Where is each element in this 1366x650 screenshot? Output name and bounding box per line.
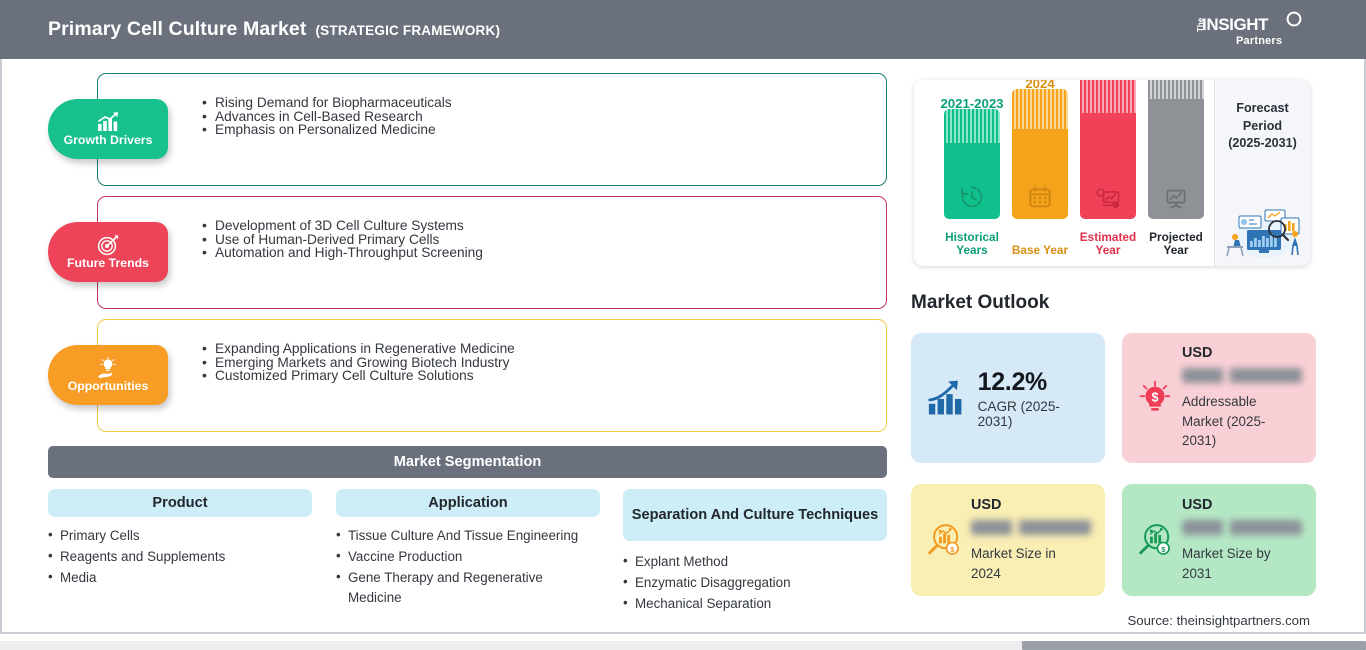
- segment-items-product: Primary Cells Reagents and Supplements M…: [48, 526, 312, 588]
- card-future-trends: Development of 3D Cell Culture Systems U…: [97, 196, 887, 309]
- list-item: Primary Cells: [48, 526, 312, 547]
- bar-stripe-top: [1080, 80, 1136, 113]
- page-subtitle: (STRATEGIC FRAMEWORK): [315, 23, 500, 38]
- list-item: Advances in Cell-Based Research: [202, 110, 452, 124]
- segment-title: Product: [152, 494, 207, 513]
- badge-label: Future Trends: [67, 257, 149, 269]
- list-item: Explant Method: [623, 552, 887, 573]
- masked-value: [1182, 368, 1302, 383]
- masked-value: [971, 520, 1091, 535]
- bar-solid-body: [1012, 129, 1068, 219]
- card-opportunities: Expanding Applications in Regenerative M…: [97, 319, 887, 432]
- segment-header-product[interactable]: Product: [48, 489, 312, 517]
- badge-future-trends[interactable]: Future Trends: [48, 222, 168, 282]
- outlook-card-addressable-market[interactable]: $ USD Addressable Market (2025-2031): [1122, 333, 1316, 463]
- badge-growth-drivers[interactable]: Growth Drivers: [48, 99, 168, 159]
- bar-solid-body: [1148, 99, 1204, 219]
- market-segmentation-header: Market Segmentation: [48, 446, 887, 478]
- list-item: Media: [48, 568, 312, 589]
- badge-label: Growth Drivers: [64, 134, 153, 146]
- outlook-card-market-size-2031[interactable]: $ USD Market Size by 2031: [1122, 484, 1316, 596]
- lightbulb-dollar-icon: $: [1136, 374, 1174, 422]
- cagr-value: 12.2%: [978, 368, 1091, 397]
- business-analytics-illustration: [1219, 198, 1307, 260]
- addressable-text-group: USD Addressable Market (2025-2031): [1182, 345, 1302, 450]
- svg-text:Partners: Partners: [1236, 35, 1282, 47]
- list-item: Emerging Markets and Growing Biotech Ind…: [202, 356, 515, 370]
- segment-header-application[interactable]: Application: [336, 489, 600, 517]
- timeline-category-label: Projected Year: [1138, 231, 1214, 258]
- bar-solid-body: [944, 143, 1000, 219]
- size2024-text-group: USD Market Size in 2024: [971, 497, 1091, 583]
- future-trends-bullet-list: Development of 3D Cell Culture Systems U…: [202, 219, 483, 260]
- magnifier-chart-dollar-icon: $: [1136, 517, 1174, 563]
- source-attribution: Source: theinsightpartners.com: [1127, 613, 1310, 628]
- card-caption: Addressable Market (2025-2031): [1182, 392, 1292, 450]
- bar-solid-body: [1080, 113, 1136, 219]
- card-growth-drivers: Rising Demand for Biopharmaceuticals Adv…: [97, 73, 887, 186]
- bar-shape: [1148, 80, 1204, 219]
- list-item: Vaccine Production: [336, 547, 600, 568]
- market-segmentation-title: Market Segmentation: [394, 454, 542, 470]
- the-insight-partners-logo: The INSIGHT Partners: [1190, 8, 1310, 52]
- masked-value: [1182, 520, 1302, 535]
- bar-shape: [944, 109, 1000, 219]
- bar-stripe-top: [1148, 80, 1204, 99]
- forecast-period-text: Forecast Period (2025-2031): [1215, 100, 1310, 153]
- header-title-group: Primary Cell Culture Market (STRATEGIC F…: [0, 18, 500, 41]
- presentation-chart-icon: [1163, 186, 1189, 210]
- cagr-caption: CAGR (2025-2031): [978, 399, 1091, 429]
- forecast-period-panel: Forecast Period (2025-2031): [1214, 80, 1310, 266]
- list-item: Rising Demand for Biopharmaceuticals: [202, 96, 452, 110]
- cagr-text-group: 12.2% CAGR (2025-2031): [978, 368, 1091, 429]
- forecast-line-1: Forecast: [1215, 100, 1310, 118]
- svg-text:$: $: [1151, 391, 1158, 405]
- list-item: Use of Human-Derived Primary Cells: [202, 233, 483, 247]
- lightbulb-hand-icon: [95, 357, 121, 379]
- timeline-category-label: Base Year: [1002, 244, 1078, 258]
- list-item: Tissue Culture And Tissue Engineering: [336, 526, 600, 547]
- bar-chart-growth-icon: [95, 111, 121, 133]
- bar-shape: [1012, 89, 1068, 219]
- segmentation-column-product: Product Primary Cells Reagents and Suppl…: [48, 489, 312, 588]
- currency-label: USD: [1182, 345, 1302, 361]
- list-item: Development of 3D Cell Culture Systems: [202, 219, 483, 233]
- magnifier-chart-dollar-icon: $: [925, 517, 963, 563]
- outlook-card-cagr[interactable]: 12.2% CAGR (2025-2031): [911, 333, 1105, 463]
- page-header: Primary Cell Culture Market (STRATEGIC F…: [0, 0, 1366, 59]
- opportunities-bullet-list: Expanding Applications in Regenerative M…: [202, 342, 515, 383]
- list-item: Reagents and Supplements: [48, 547, 312, 568]
- segment-items-application: Tissue Culture And Tissue Engineering Va…: [336, 526, 600, 609]
- calendar-icon: [1027, 184, 1053, 210]
- size2031-text-group: USD Market Size by 2031: [1182, 497, 1302, 583]
- forecast-line-2: Period: [1215, 118, 1310, 136]
- bar-stripe-top: [944, 109, 1000, 143]
- infographic-page: Primary Cell Culture Market (STRATEGIC F…: [0, 0, 1366, 650]
- card-caption: Market Size by 2031: [1182, 544, 1287, 583]
- list-item: Emphasis on Personalized Medicine: [202, 123, 452, 137]
- outlook-card-market-size-2024[interactable]: $ USD Market Size in 2024: [911, 484, 1105, 596]
- currency-label: USD: [971, 497, 1091, 513]
- horizontal-scrollbar-thumb[interactable]: [1022, 641, 1366, 650]
- list-item: Expanding Applications in Regenerative M…: [202, 342, 515, 356]
- svg-text:INSIGHT: INSIGHT: [1202, 15, 1269, 34]
- list-item: Gene Therapy and Regenerative Medicine: [336, 568, 600, 610]
- page-title: Primary Cell Culture Market: [48, 18, 306, 41]
- card-caption: Market Size in 2024: [971, 544, 1076, 583]
- segment-title: Application: [428, 494, 507, 513]
- list-item: Enzymatic Disaggregation: [623, 573, 887, 594]
- market-timeline-chart: 2021-2023 Historical Years 2024: [914, 80, 1310, 266]
- list-item: Customized Primary Cell Culture Solution…: [202, 369, 515, 383]
- bar-stripe-top: [1012, 89, 1068, 129]
- timeline-category-label: Historical Years: [934, 231, 1010, 258]
- segment-header-separation[interactable]: Separation And Culture Techniques: [623, 489, 887, 541]
- timeline-category-label: Estimated Year: [1070, 231, 1146, 258]
- list-item: Mechanical Separation: [623, 594, 887, 615]
- list-item: Automation and High-Throughput Screening: [202, 246, 483, 260]
- forecast-line-3: (2025-2031): [1215, 135, 1310, 153]
- badge-opportunities[interactable]: Opportunities: [48, 345, 168, 405]
- segment-items-separation: Explant Method Enzymatic Disaggregation …: [623, 552, 887, 614]
- currency-label: USD: [1182, 497, 1302, 513]
- bar-chart-arrow-icon: [925, 376, 968, 420]
- growth-drivers-bullet-list: Rising Demand for Biopharmaceuticals Adv…: [202, 96, 452, 137]
- segmentation-column-application: Application Tissue Culture And Tissue En…: [336, 489, 600, 609]
- segment-title: Separation And Culture Techniques: [632, 506, 879, 525]
- bar-shape: [1080, 80, 1136, 219]
- target-dart-icon: [95, 234, 121, 256]
- forecast-analytics-icon: [1095, 186, 1121, 210]
- segmentation-column-separation: Separation And Culture Techniques Explan…: [623, 489, 887, 614]
- badge-label: Opportunities: [68, 380, 149, 392]
- market-outlook-title: Market Outlook: [911, 292, 1049, 314]
- clock-rewind-icon: [959, 184, 985, 210]
